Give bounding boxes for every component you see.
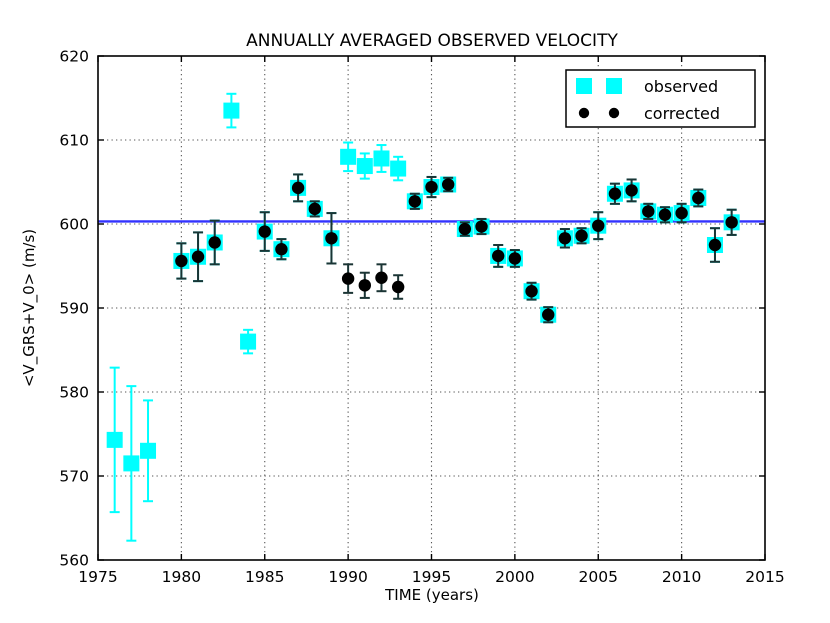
data-point-observed (140, 400, 156, 501)
marker-circle (375, 272, 387, 284)
data-point-corrected (192, 232, 204, 281)
data-point-observed (373, 145, 389, 172)
data-point-observed (357, 153, 373, 178)
x-axis-label: TIME (years) (384, 586, 479, 604)
x-tick-label: 2000 (495, 568, 534, 586)
data-point-corrected (292, 174, 304, 201)
data-point-observed (107, 368, 123, 512)
marker-circle (325, 232, 337, 244)
y-tick-label: 610 (59, 132, 89, 150)
marker-circle (675, 207, 687, 219)
marker-square (340, 149, 356, 165)
marker-square (223, 103, 239, 119)
marker-circle (442, 178, 454, 190)
chart-title-group: ANNUALLY AVERAGED OBSERVED VELOCITY (246, 31, 618, 51)
marker-circle (425, 181, 437, 193)
x-tick-label: 1990 (328, 568, 367, 586)
data-point-corrected (725, 210, 737, 235)
legend-marker-circle (609, 108, 619, 118)
y-tick-label: 590 (59, 300, 89, 318)
x-tick-label: 1980 (162, 568, 201, 586)
y-tick-label: 620 (59, 48, 89, 66)
chart-title: ANNUALLY AVERAGED OBSERVED VELOCITY (246, 31, 618, 51)
marker-circle (642, 205, 654, 217)
marker-circle (209, 236, 221, 248)
x-tick-label: 1985 (245, 568, 284, 586)
marker-circle (275, 243, 287, 255)
marker-square (140, 443, 156, 459)
legend-marker-square (576, 78, 592, 94)
axis-ticks: 1975198019851990199520002005201020155605… (59, 48, 784, 587)
data-point-corrected (259, 212, 271, 251)
data-point-corrected (592, 212, 604, 239)
data-point-observed (390, 157, 406, 181)
marker-circle (542, 309, 554, 321)
marker-circle (342, 272, 354, 284)
axis-labels: TIME (years) <V_GRS+V_0> (m/s) (20, 229, 479, 604)
marker-circle (609, 188, 621, 200)
marker-circle (359, 279, 371, 291)
y-axis-label: <V_GRS+V_0> (m/s) (20, 229, 39, 387)
data-point-corrected (359, 273, 371, 298)
y-tick-label: 580 (59, 384, 89, 402)
x-tick-label: 2015 (745, 568, 784, 586)
x-tick-label: 1975 (78, 568, 117, 586)
marker-circle (559, 232, 571, 244)
chart-figure: ANNUALLY AVERAGED OBSERVED VELOCITY 1975… (0, 0, 830, 623)
data-point-observed (123, 386, 139, 541)
data-point-corrected (709, 228, 721, 262)
marker-square (390, 161, 406, 177)
marker-circle (692, 192, 704, 204)
marker-circle (292, 182, 304, 194)
marker-circle (709, 239, 721, 251)
legend-label: corrected (644, 104, 720, 123)
data-point-observed (240, 330, 256, 354)
data-point-corrected (392, 275, 404, 299)
legend-label: observed (644, 77, 718, 96)
legend-marker-circle (579, 108, 589, 118)
marker-circle (392, 281, 404, 293)
marker-circle (659, 209, 671, 221)
data-point-observed (223, 94, 239, 128)
x-tick-label: 2010 (662, 568, 701, 586)
marker-circle (309, 203, 321, 215)
marker-circle (259, 225, 271, 237)
chart-legend[interactable]: observedcorrected (566, 70, 755, 127)
marker-square (357, 158, 373, 174)
y-tick-label: 560 (59, 552, 89, 570)
data-point-corrected (209, 221, 221, 265)
data-point-corrected (175, 243, 187, 278)
marker-square (373, 150, 389, 166)
marker-circle (459, 223, 471, 235)
velocity-scatter-chart: ANNUALLY AVERAGED OBSERVED VELOCITY 1975… (0, 0, 830, 623)
legend-marker-square (606, 78, 622, 94)
gridlines (98, 56, 765, 560)
marker-circle (475, 220, 487, 232)
marker-circle (725, 216, 737, 228)
marker-circle (625, 184, 637, 196)
data-point-observed (340, 143, 356, 172)
marker-square (107, 432, 123, 448)
marker-circle (592, 219, 604, 231)
marker-circle (492, 250, 504, 262)
marker-circle (409, 195, 421, 207)
marker-circle (509, 252, 521, 264)
x-tick-label: 2005 (579, 568, 618, 586)
x-tick-label: 1995 (412, 568, 451, 586)
data-points-layer (107, 94, 740, 541)
marker-circle (575, 230, 587, 242)
data-point-corrected (375, 264, 387, 291)
marker-circle (525, 285, 537, 297)
marker-square (240, 334, 256, 350)
marker-circle (175, 255, 187, 267)
marker-circle (192, 251, 204, 263)
marker-square (123, 455, 139, 471)
y-tick-label: 570 (59, 468, 89, 486)
y-tick-label: 600 (59, 216, 89, 234)
data-point-corrected (342, 264, 354, 293)
